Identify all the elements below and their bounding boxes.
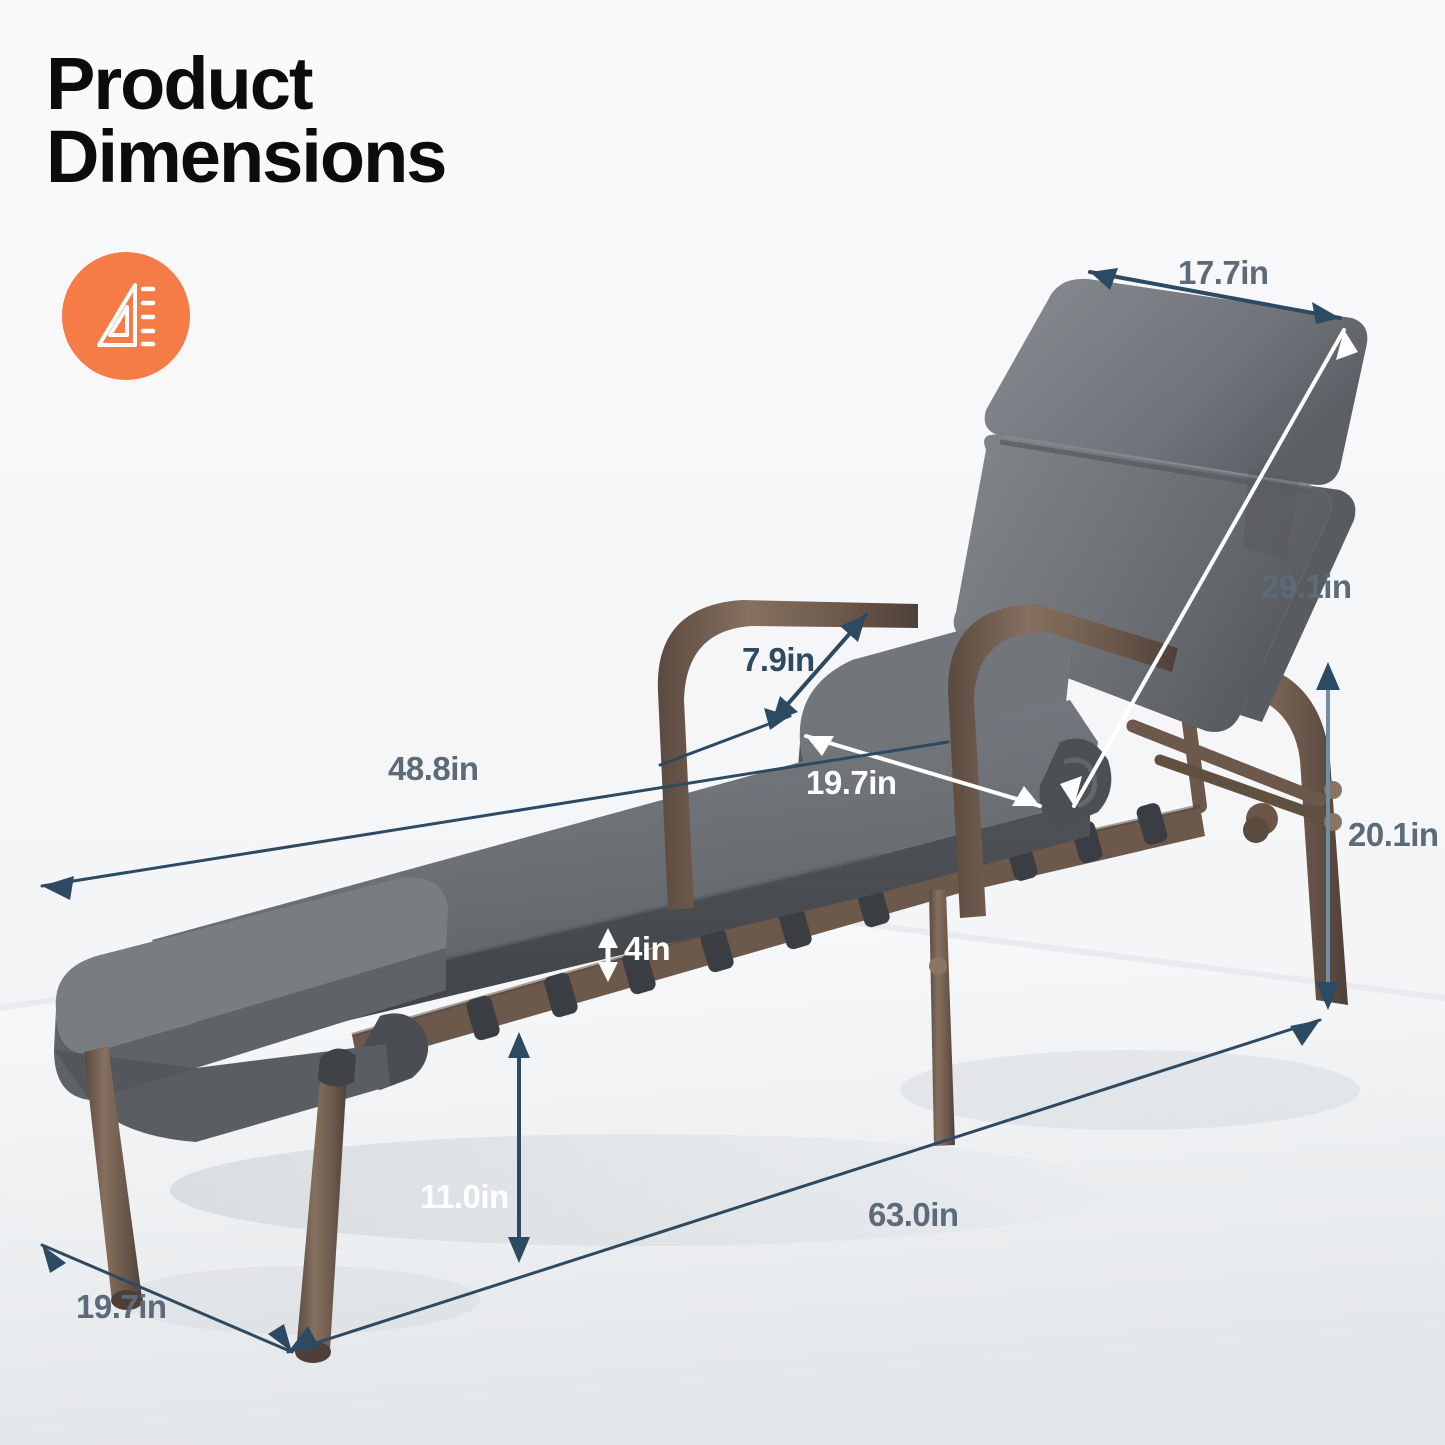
product-illustration	[0, 0, 1445, 1445]
dim-label-cushion-length: 48.8in	[388, 752, 479, 785]
header: Product Dimensions	[46, 48, 746, 193]
dim-label-back-leg-height: 20.1in	[1348, 818, 1439, 851]
dim-label-overall-width: 19.7in	[76, 1290, 167, 1323]
dim-label-cushion-thickness: 4in	[624, 932, 670, 965]
dim-label-seat-height: 11.0in	[420, 1180, 509, 1213]
dim-label-backrest-length: 29.1in	[1261, 570, 1352, 603]
floor-shadow-rear	[900, 1050, 1360, 1130]
dim-label-seat-width: 19.7in	[806, 766, 897, 799]
page-title: Product Dimensions	[46, 48, 746, 193]
dim-label-overall-length: 63.0in	[868, 1198, 959, 1231]
dimensions-badge	[62, 252, 190, 380]
dim-label-armrest-height: 7.9in	[742, 643, 815, 676]
infographic-canvas: Product Dimensions 17.7in 29.1in 7.9in 1…	[0, 0, 1445, 1445]
dim-label-backrest-width: 17.7in	[1178, 256, 1269, 289]
